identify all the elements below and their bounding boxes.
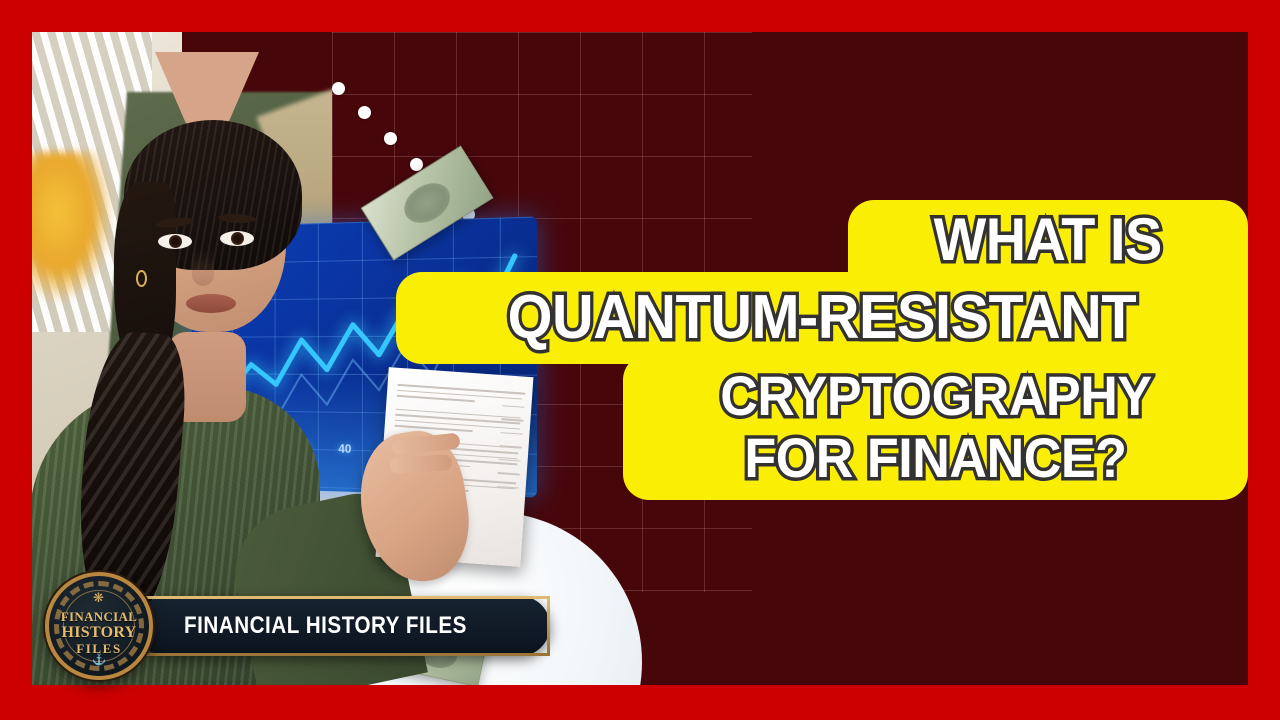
channel-logo-seal[interactable]: ❋ FINANCIAL HISTORY FILES ⚓ bbox=[45, 572, 153, 680]
channel-name-pill[interactable]: FINANCIAL HISTORY FILES bbox=[137, 596, 550, 656]
nose bbox=[192, 250, 214, 286]
eye-right bbox=[220, 231, 254, 246]
lips bbox=[186, 294, 236, 313]
channel-name-label: FINANCIAL HISTORY FILES bbox=[184, 612, 467, 640]
brand-bar[interactable]: ❋ FINANCIAL HISTORY FILES ⚓ FINANCIAL HI… bbox=[45, 572, 550, 680]
seal-text-line-1: FINANCIAL bbox=[61, 610, 137, 624]
eye-left bbox=[158, 234, 192, 249]
seal-text-line-3: FILES bbox=[61, 642, 137, 656]
finger bbox=[390, 454, 453, 473]
seal-text-line-2: HISTORY bbox=[61, 624, 137, 641]
earring-icon bbox=[136, 270, 147, 287]
thumbnail-canvas: 70 60 50 40 10 20 30 40 50 60 bbox=[0, 0, 1280, 720]
